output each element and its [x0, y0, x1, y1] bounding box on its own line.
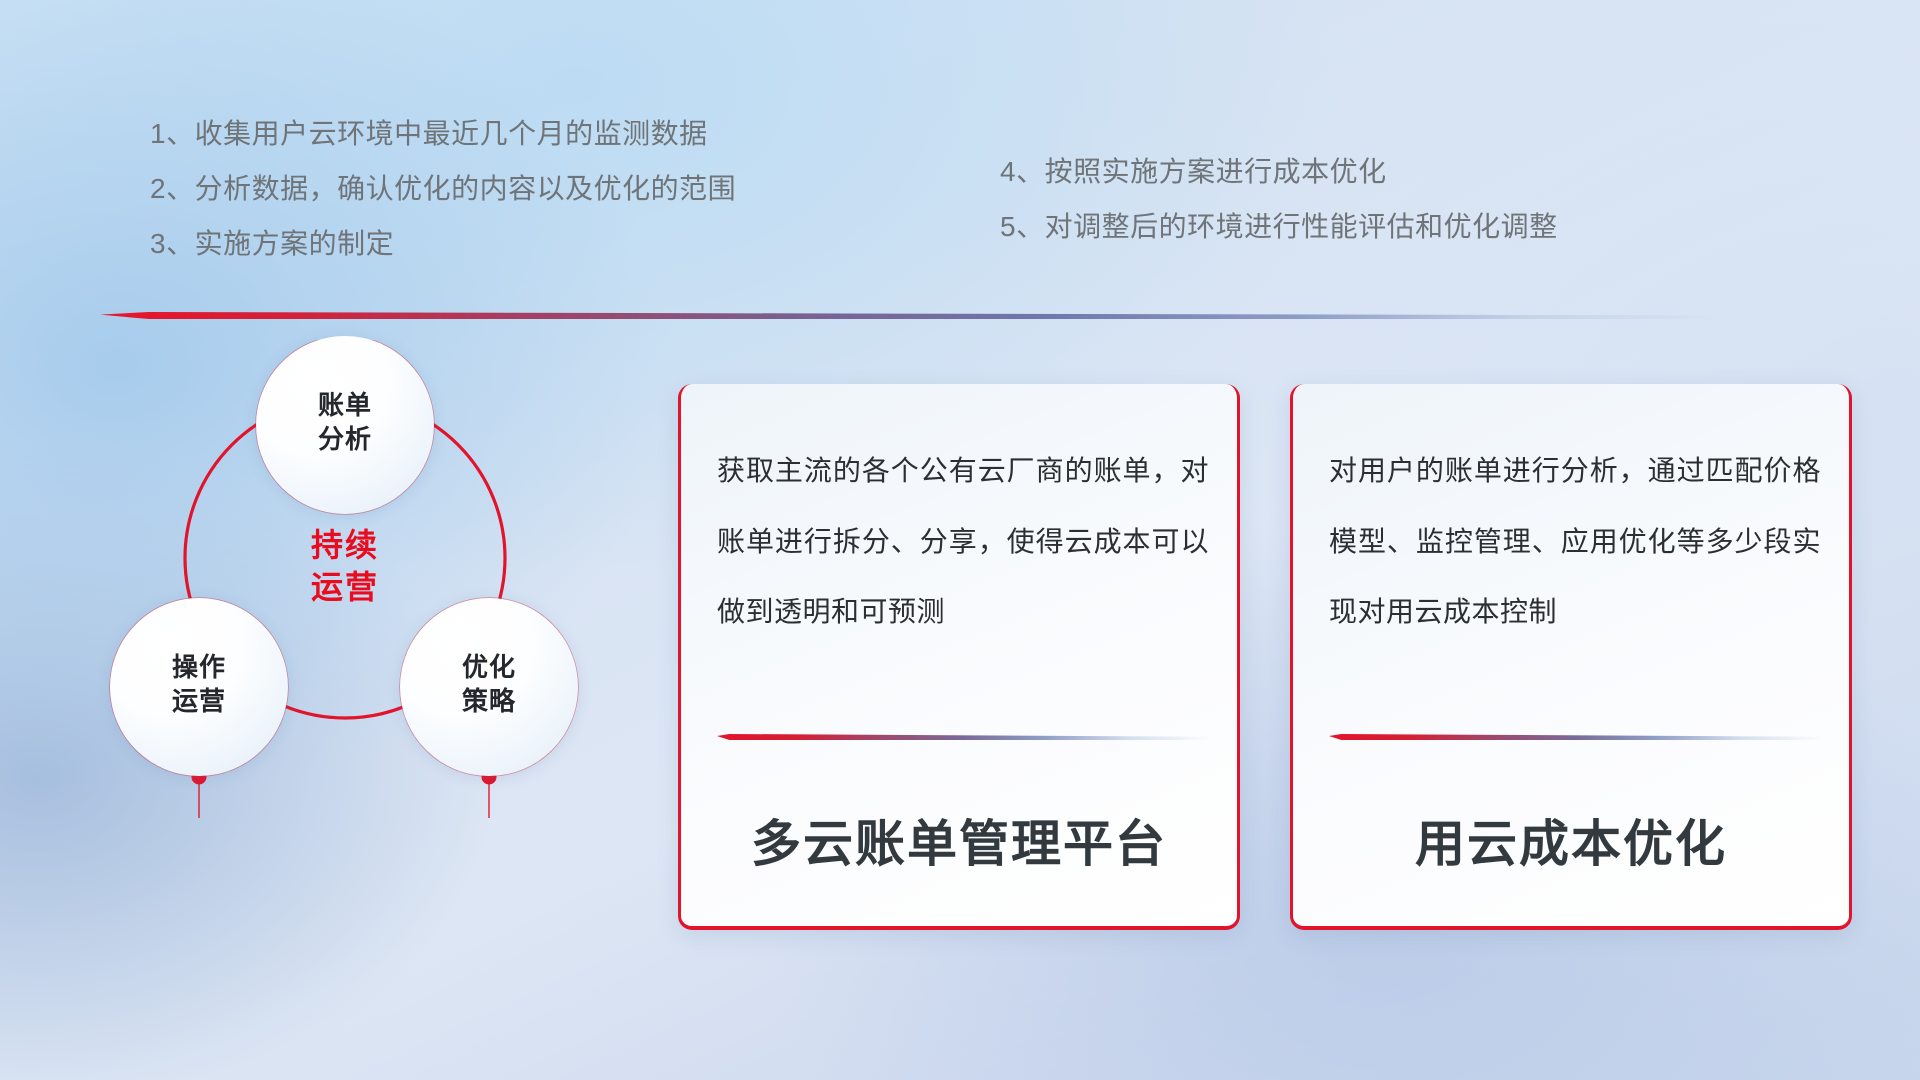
process-list-item: 3、实施方案的制定 — [150, 230, 736, 258]
bubble-label: 账单 分析 — [318, 389, 372, 457]
card-divider-line — [1329, 734, 1823, 740]
diagram-bubble-optimization-strategy[interactable]: 优化 策略 — [400, 598, 578, 776]
process-list-item: 4、按照实施方案进行成本优化 — [1000, 158, 1558, 186]
process-list-right: 4、按照实施方案进行成本优化 5、对调整后的环境进行性能评估和优化调整 — [1000, 158, 1558, 268]
center-label-line1: 持续 — [311, 527, 379, 563]
bubble-label-line1: 账单 — [318, 390, 372, 420]
bubble-label: 优化 策略 — [462, 651, 516, 719]
feature-card-multi-cloud-billing[interactable]: 获取主流的各个公有云厂商的账单，对账单进行拆分、分享，使得云成本可以做到透明和可… — [678, 384, 1240, 930]
diagram-center-label: 持续 运营 — [250, 525, 440, 608]
bubble-label-line2: 分析 — [318, 424, 372, 454]
bubble-label-line1: 操作 — [172, 652, 226, 682]
diagram-bubble-operation[interactable]: 操作 运营 — [110, 598, 288, 776]
card-description: 对用户的账单进行分析，通过匹配价格模型、监控管理、应用优化等多少段实现对用云成本… — [1329, 436, 1821, 648]
center-label-line2: 运营 — [311, 569, 379, 605]
process-list-item: 5、对调整后的环境进行性能评估和优化调整 — [1000, 213, 1558, 241]
process-list-left: 1、收集用户云环境中最近几个月的监测数据 2、分析数据，确认优化的内容以及优化的… — [150, 120, 736, 285]
card-description: 获取主流的各个公有云厂商的账单，对账单进行拆分、分享，使得云成本可以做到透明和可… — [717, 436, 1209, 648]
slide-canvas: 1、收集用户云环境中最近几个月的监测数据 2、分析数据，确认优化的内容以及优化的… — [0, 0, 1920, 1080]
bubble-label-line1: 优化 — [462, 652, 516, 682]
card-divider-line — [717, 734, 1211, 740]
card-title: 用云成本优化 — [1293, 804, 1849, 876]
diagram-bubble-bill-analysis[interactable]: 账单 分析 — [256, 336, 434, 514]
bubble-label-line2: 策略 — [462, 686, 516, 716]
process-list-item: 2、分析数据，确认优化的内容以及优化的范围 — [150, 175, 736, 203]
bubble-label-line2: 运营 — [172, 686, 226, 716]
continuous-operation-diagram: 账单 分析 操作 运营 优化 策略 持续 运营 — [100, 340, 660, 940]
card-title: 多云账单管理平台 — [681, 804, 1237, 876]
bubble-label: 操作 运营 — [172, 651, 226, 719]
process-list-item: 1、收集用户云环境中最近几个月的监测数据 — [150, 120, 736, 148]
feature-card-cloud-cost-optimization[interactable]: 对用户的账单进行分析，通过匹配价格模型、监控管理、应用优化等多少段实现对用云成本… — [1290, 384, 1852, 930]
section-divider-line — [100, 312, 1720, 319]
